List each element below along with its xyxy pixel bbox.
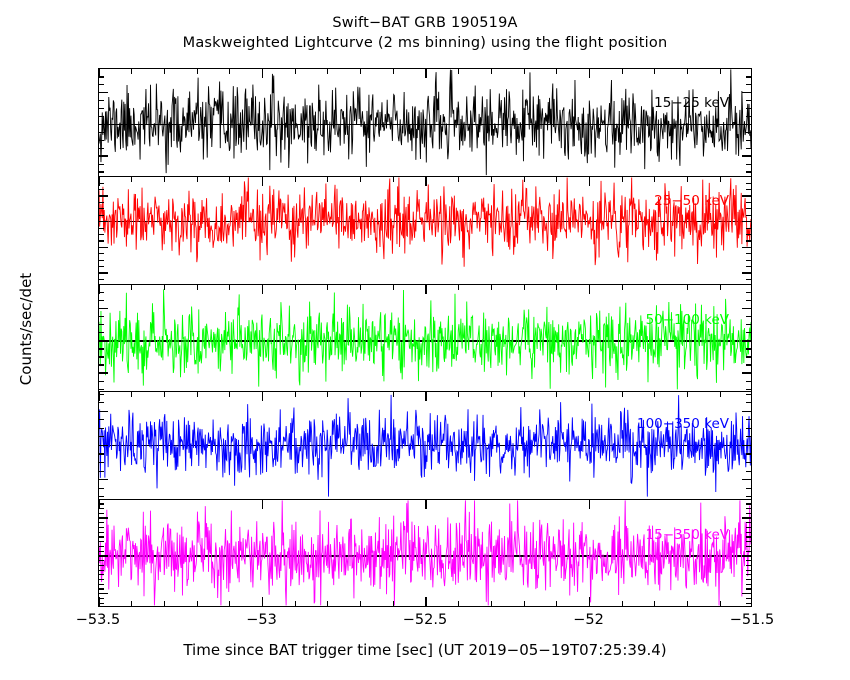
lightcurve-trace bbox=[99, 285, 751, 392]
y-tick-minor bbox=[99, 253, 104, 254]
x-tick-minor bbox=[295, 177, 296, 182]
x-tick-minor bbox=[654, 285, 655, 290]
x-tick-minor bbox=[458, 392, 459, 397]
y-tick-mark bbox=[742, 221, 751, 222]
x-tick-mark bbox=[262, 285, 263, 294]
y-tick-minor bbox=[99, 541, 104, 542]
y-tick-minor bbox=[746, 579, 751, 580]
y-tick-minor bbox=[746, 234, 751, 235]
y-tick-minor bbox=[746, 574, 751, 575]
x-tick-minor bbox=[654, 177, 655, 182]
x-tick-minor bbox=[197, 285, 198, 290]
x-tick-minor bbox=[327, 177, 328, 182]
x-tick-minor bbox=[654, 601, 655, 606]
x-tick-minor bbox=[556, 177, 557, 182]
y-tick-minor bbox=[99, 332, 104, 333]
y-tick-minor bbox=[746, 356, 751, 357]
energy-band-label: 25−50 keV bbox=[654, 193, 729, 209]
x-tick-minor bbox=[393, 601, 394, 606]
y-tick-mark bbox=[99, 517, 108, 518]
y-tick-minor bbox=[99, 171, 104, 172]
y-tick-minor bbox=[746, 260, 751, 261]
x-tick-mark bbox=[425, 392, 426, 401]
y-tick-minor bbox=[99, 527, 104, 528]
y-tick-minor bbox=[746, 551, 751, 552]
x-tick-mark bbox=[425, 69, 426, 78]
x-axis-label: Time since BAT trigger time [sec] (UT 20… bbox=[0, 641, 850, 659]
x-tick-minor bbox=[197, 69, 198, 74]
x-tick-minor bbox=[458, 69, 459, 74]
y-tick-minor bbox=[99, 234, 104, 235]
y-axis-label: Counts/sec/det bbox=[17, 229, 35, 429]
x-tick-minor bbox=[720, 601, 721, 606]
y-tick-minor bbox=[746, 279, 751, 280]
x-tick-minor bbox=[360, 69, 361, 74]
x-tick-minor bbox=[131, 69, 132, 74]
lightcurve-trace bbox=[99, 69, 751, 176]
y-tick-minor bbox=[746, 428, 751, 429]
y-tick-minor bbox=[99, 402, 104, 403]
y-tick-minor bbox=[99, 84, 104, 85]
y-tick-minor bbox=[99, 215, 104, 216]
y-tick-minor bbox=[99, 324, 104, 325]
y-tick-minor bbox=[746, 588, 751, 589]
x-tick-mark bbox=[98, 500, 99, 509]
y-tick-minor bbox=[746, 584, 751, 585]
x-tick-minor bbox=[622, 392, 623, 397]
x-tick-minor bbox=[393, 285, 394, 290]
x-tick-minor bbox=[327, 601, 328, 606]
x-tick-minor bbox=[556, 285, 557, 290]
y-tick-minor bbox=[746, 508, 751, 509]
y-tick-minor bbox=[746, 402, 751, 403]
y-tick-minor bbox=[99, 546, 104, 547]
x-tick-minor bbox=[295, 601, 296, 606]
y-tick-minor bbox=[746, 394, 751, 395]
y-tick-minor bbox=[746, 348, 751, 349]
x-tick-minor bbox=[687, 601, 688, 606]
x-tick-minor bbox=[556, 601, 557, 606]
lightcurve-panel-1: 10−115−25 keV bbox=[98, 68, 752, 176]
y-tick-minor bbox=[99, 381, 104, 382]
y-tick-minor bbox=[99, 513, 104, 514]
x-tick-mark bbox=[589, 285, 590, 294]
y-tick-minor bbox=[746, 100, 751, 101]
y-tick-minor bbox=[746, 240, 751, 241]
x-tick-mark bbox=[589, 392, 590, 401]
y-tick-mark bbox=[99, 247, 108, 248]
x-tick-minor bbox=[687, 285, 688, 290]
x-tick-minor bbox=[164, 392, 165, 397]
x-tick-minor bbox=[197, 177, 198, 182]
y-tick-minor bbox=[99, 496, 104, 497]
y-tick-minor bbox=[99, 140, 104, 141]
lightcurve-trace bbox=[99, 500, 751, 606]
y-tick-minor bbox=[99, 266, 104, 267]
x-tick-mark bbox=[262, 500, 263, 509]
x-tick-minor bbox=[556, 69, 557, 74]
y-tick-minor bbox=[99, 260, 104, 261]
x-tick-mark bbox=[589, 69, 590, 78]
y-tick-minor bbox=[99, 356, 104, 357]
x-tick-label: −53 bbox=[246, 612, 277, 628]
x-tick-minor bbox=[654, 392, 655, 397]
y-tick-mark bbox=[742, 340, 751, 341]
x-tick-mark bbox=[98, 597, 99, 606]
y-tick-minor bbox=[99, 574, 104, 575]
y-tick-mark bbox=[742, 247, 751, 248]
y-tick-mark bbox=[742, 593, 751, 594]
y-tick-minor bbox=[99, 76, 104, 77]
y-tick-minor bbox=[746, 565, 751, 566]
x-tick-minor bbox=[360, 601, 361, 606]
y-tick-minor bbox=[746, 541, 751, 542]
x-tick-minor bbox=[622, 177, 623, 182]
x-tick-minor bbox=[131, 285, 132, 290]
x-tick-minor bbox=[393, 392, 394, 397]
energy-band-label: 15−25 keV bbox=[654, 95, 729, 111]
y-tick-minor bbox=[99, 364, 104, 365]
lightcurve-trace bbox=[99, 392, 751, 499]
energy-band-label: 15−350 keV bbox=[646, 527, 729, 543]
lightcurve-panel-3: 10−150−100 keV bbox=[98, 284, 752, 392]
y-tick-minor bbox=[99, 300, 104, 301]
x-tick-minor bbox=[131, 601, 132, 606]
y-tick-minor bbox=[99, 428, 104, 429]
x-tick-minor bbox=[229, 177, 230, 182]
y-tick-minor bbox=[746, 183, 751, 184]
lightcurve-panel-4: 10−1100−350 keV bbox=[98, 391, 752, 499]
x-tick-minor bbox=[458, 601, 459, 606]
y-tick-minor bbox=[746, 453, 751, 454]
x-tick-minor bbox=[524, 601, 525, 606]
y-tick-minor bbox=[746, 300, 751, 301]
x-tick-minor bbox=[491, 69, 492, 74]
lightcurve-panel-5: 20−215−350 keV bbox=[98, 499, 752, 607]
y-tick-minor bbox=[99, 471, 104, 472]
y-tick-mark bbox=[742, 555, 751, 556]
y-tick-minor bbox=[99, 436, 104, 437]
y-tick-minor bbox=[99, 292, 104, 293]
y-tick-minor bbox=[99, 164, 104, 165]
y-tick-minor bbox=[746, 171, 751, 172]
y-tick-minor bbox=[746, 292, 751, 293]
y-tick-minor bbox=[746, 108, 751, 109]
y-tick-minor bbox=[99, 100, 104, 101]
x-tick-minor bbox=[327, 392, 328, 397]
x-tick-minor bbox=[491, 177, 492, 182]
x-tick-minor bbox=[295, 285, 296, 290]
x-tick-minor bbox=[131, 177, 132, 182]
x-tick-minor bbox=[229, 285, 230, 290]
y-tick-minor bbox=[99, 394, 104, 395]
y-tick-minor bbox=[99, 279, 104, 280]
x-tick-mark bbox=[589, 177, 590, 186]
x-tick-minor bbox=[556, 392, 557, 397]
y-tick-mark bbox=[742, 517, 751, 518]
x-tick-mark bbox=[589, 500, 590, 509]
x-tick-minor bbox=[458, 177, 459, 182]
y-tick-mark bbox=[99, 92, 108, 93]
y-tick-minor bbox=[99, 132, 104, 133]
y-tick-minor bbox=[99, 536, 104, 537]
x-tick-minor bbox=[720, 392, 721, 397]
y-tick-minor bbox=[99, 532, 104, 533]
y-tick-minor bbox=[746, 381, 751, 382]
y-tick-minor bbox=[746, 419, 751, 420]
x-tick-minor bbox=[687, 177, 688, 182]
y-tick-minor bbox=[99, 560, 104, 561]
y-tick-minor bbox=[746, 603, 751, 604]
x-tick-minor bbox=[720, 69, 721, 74]
y-tick-minor bbox=[99, 389, 104, 390]
x-tick-minor bbox=[295, 392, 296, 397]
x-tick-mark bbox=[425, 500, 426, 509]
y-tick-minor bbox=[99, 603, 104, 604]
x-tick-minor bbox=[654, 69, 655, 74]
x-tick-minor bbox=[229, 392, 230, 397]
y-tick-mark bbox=[742, 272, 751, 273]
y-tick-minor bbox=[99, 116, 104, 117]
y-tick-minor bbox=[746, 598, 751, 599]
x-tick-label: −52 bbox=[573, 612, 604, 628]
figure-title-block: Swift−BAT GRB 190519A Maskweighted Light… bbox=[0, 14, 850, 54]
x-tick-minor bbox=[164, 285, 165, 290]
y-tick-mark bbox=[742, 155, 751, 156]
x-tick-mark bbox=[425, 285, 426, 294]
y-tick-minor bbox=[746, 324, 751, 325]
y-tick-mark bbox=[99, 555, 108, 556]
lightcurve-figure: Swift−BAT GRB 190519A Maskweighted Light… bbox=[0, 0, 850, 680]
y-tick-minor bbox=[746, 116, 751, 117]
x-tick-minor bbox=[491, 285, 492, 290]
x-tick-minor bbox=[360, 177, 361, 182]
y-tick-mark bbox=[99, 340, 108, 341]
y-tick-minor bbox=[746, 532, 751, 533]
y-tick-minor bbox=[99, 462, 104, 463]
y-tick-minor bbox=[99, 419, 104, 420]
y-tick-minor bbox=[746, 132, 751, 133]
x-tick-minor bbox=[164, 69, 165, 74]
y-tick-minor bbox=[99, 565, 104, 566]
y-tick-minor bbox=[746, 228, 751, 229]
x-tick-minor bbox=[393, 69, 394, 74]
y-tick-minor bbox=[746, 364, 751, 365]
y-tick-minor bbox=[99, 183, 104, 184]
y-tick-minor bbox=[746, 332, 751, 333]
lightcurve-panel-2: 10−1−225−50 keV bbox=[98, 176, 752, 284]
y-tick-mark bbox=[99, 593, 108, 594]
y-tick-minor bbox=[99, 348, 104, 349]
y-tick-minor bbox=[746, 570, 751, 571]
y-tick-minor bbox=[746, 389, 751, 390]
y-tick-mark bbox=[742, 411, 751, 412]
x-tick-minor bbox=[524, 392, 525, 397]
y-tick-mark bbox=[742, 195, 751, 196]
y-tick-minor bbox=[746, 208, 751, 209]
y-tick-minor bbox=[746, 84, 751, 85]
y-tick-minor bbox=[746, 164, 751, 165]
y-tick-mark bbox=[742, 372, 751, 373]
y-tick-minor bbox=[746, 471, 751, 472]
x-tick-minor bbox=[131, 392, 132, 397]
x-tick-minor bbox=[295, 69, 296, 74]
x-tick-minor bbox=[687, 392, 688, 397]
x-tick-label: −51.5 bbox=[730, 612, 774, 628]
y-tick-minor bbox=[99, 522, 104, 523]
x-tick-minor bbox=[164, 601, 165, 606]
x-tick-minor bbox=[229, 69, 230, 74]
y-tick-minor bbox=[99, 189, 104, 190]
y-tick-minor bbox=[746, 488, 751, 489]
y-tick-minor bbox=[99, 453, 104, 454]
energy-band-label: 100−350 keV bbox=[637, 416, 729, 432]
x-tick-mark bbox=[425, 177, 426, 186]
y-tick-minor bbox=[746, 436, 751, 437]
x-tick-minor bbox=[720, 177, 721, 182]
y-tick-minor bbox=[746, 266, 751, 267]
x-tick-mark bbox=[262, 177, 263, 186]
y-tick-mark bbox=[99, 445, 108, 446]
x-tick-mark bbox=[98, 69, 99, 78]
x-tick-minor bbox=[491, 601, 492, 606]
y-tick-minor bbox=[746, 148, 751, 149]
y-tick-minor bbox=[746, 513, 751, 514]
energy-band-label: 50−100 keV bbox=[646, 312, 729, 328]
y-tick-minor bbox=[746, 536, 751, 537]
y-tick-minor bbox=[99, 108, 104, 109]
y-tick-mark bbox=[742, 92, 751, 93]
y-tick-minor bbox=[746, 503, 751, 504]
x-tick-minor bbox=[524, 177, 525, 182]
x-tick-minor bbox=[622, 69, 623, 74]
x-tick-minor bbox=[197, 601, 198, 606]
x-tick-label: −52.5 bbox=[403, 612, 447, 628]
x-tick-minor bbox=[360, 285, 361, 290]
y-tick-minor bbox=[746, 496, 751, 497]
x-tick-minor bbox=[327, 69, 328, 74]
x-tick-minor bbox=[524, 285, 525, 290]
y-tick-minor bbox=[746, 527, 751, 528]
y-tick-minor bbox=[746, 140, 751, 141]
y-tick-minor bbox=[746, 215, 751, 216]
y-tick-mark bbox=[99, 272, 108, 273]
y-tick-minor bbox=[99, 208, 104, 209]
x-tick-minor bbox=[229, 601, 230, 606]
y-tick-mark bbox=[99, 372, 108, 373]
x-tick-minor bbox=[327, 285, 328, 290]
x-tick-mark bbox=[262, 69, 263, 78]
x-tick-minor bbox=[720, 285, 721, 290]
x-tick-minor bbox=[360, 392, 361, 397]
y-tick-minor bbox=[746, 189, 751, 190]
y-tick-mark bbox=[742, 124, 751, 125]
y-tick-mark bbox=[99, 411, 108, 412]
y-tick-mark bbox=[742, 479, 751, 480]
y-tick-minor bbox=[746, 202, 751, 203]
x-tick-mark bbox=[262, 392, 263, 401]
y-tick-minor bbox=[746, 316, 751, 317]
x-tick-minor bbox=[622, 285, 623, 290]
x-tick-mark bbox=[262, 597, 263, 606]
y-tick-minor bbox=[99, 228, 104, 229]
y-tick-minor bbox=[746, 522, 751, 523]
x-tick-mark bbox=[98, 392, 99, 401]
y-tick-minor bbox=[99, 588, 104, 589]
x-tick-mark bbox=[98, 177, 99, 186]
x-tick-mark bbox=[98, 285, 99, 294]
y-tick-minor bbox=[746, 546, 751, 547]
y-tick-minor bbox=[99, 579, 104, 580]
y-tick-minor bbox=[99, 148, 104, 149]
x-tick-mark bbox=[589, 597, 590, 606]
x-tick-minor bbox=[524, 69, 525, 74]
x-tick-minor bbox=[164, 177, 165, 182]
x-tick-minor bbox=[687, 69, 688, 74]
y-tick-minor bbox=[99, 488, 104, 489]
y-tick-minor bbox=[746, 560, 751, 561]
y-tick-mark bbox=[99, 155, 108, 156]
y-tick-minor bbox=[99, 240, 104, 241]
x-tick-minor bbox=[197, 392, 198, 397]
x-tick-label: −53.5 bbox=[76, 612, 120, 628]
y-tick-minor bbox=[99, 570, 104, 571]
plot-frame: 10−115−25 keV10−1−225−50 keV10−150−100 k… bbox=[98, 68, 752, 607]
y-tick-minor bbox=[746, 253, 751, 254]
y-tick-mark bbox=[99, 195, 108, 196]
y-tick-mark bbox=[99, 308, 108, 309]
y-tick-minor bbox=[99, 551, 104, 552]
x-tick-minor bbox=[491, 392, 492, 397]
page-title: Swift−BAT GRB 190519A bbox=[0, 14, 850, 33]
y-tick-minor bbox=[99, 316, 104, 317]
y-tick-mark bbox=[99, 479, 108, 480]
x-tick-minor bbox=[393, 177, 394, 182]
x-tick-minor bbox=[458, 285, 459, 290]
y-tick-mark bbox=[99, 221, 108, 222]
y-tick-minor bbox=[99, 584, 104, 585]
y-tick-minor bbox=[746, 76, 751, 77]
figure-subtitle: Maskweighted Lightcurve (2 ms binning) u… bbox=[0, 33, 850, 54]
y-tick-mark bbox=[99, 124, 108, 125]
y-tick-mark bbox=[742, 308, 751, 309]
x-tick-mark bbox=[425, 597, 426, 606]
y-tick-minor bbox=[99, 598, 104, 599]
y-tick-mark bbox=[742, 445, 751, 446]
y-tick-minor bbox=[746, 462, 751, 463]
x-tick-minor bbox=[622, 601, 623, 606]
y-tick-minor bbox=[99, 202, 104, 203]
